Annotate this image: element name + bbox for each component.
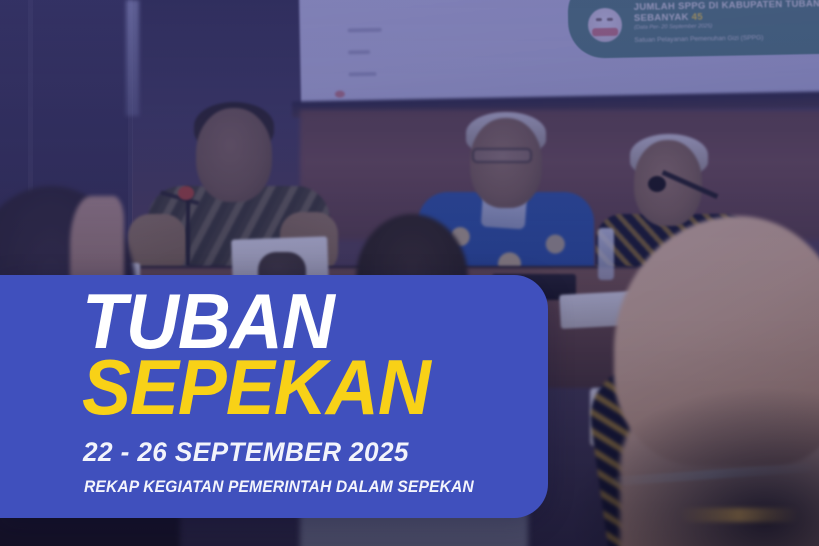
title-overlay-panel: TUBAN SEPEKAN 22 - 26 SEPTEMBER 2025 REK… [0,275,548,518]
thumbnail-card: JUMLAH SPPG DI KABUPATEN TUBAN SEBANYAK … [0,0,819,546]
page-title-accent: SEPEKAN [82,355,430,421]
title-overlay-content: TUBAN SEPEKAN 22 - 26 SEPTEMBER 2025 REK… [82,275,548,518]
subtitle-label: REKAP KEGIATAN PEMERINTAH DALAM SEPEKAN [84,478,474,497]
date-range-label: 22 - 26 SEPTEMBER 2025 [83,437,409,468]
